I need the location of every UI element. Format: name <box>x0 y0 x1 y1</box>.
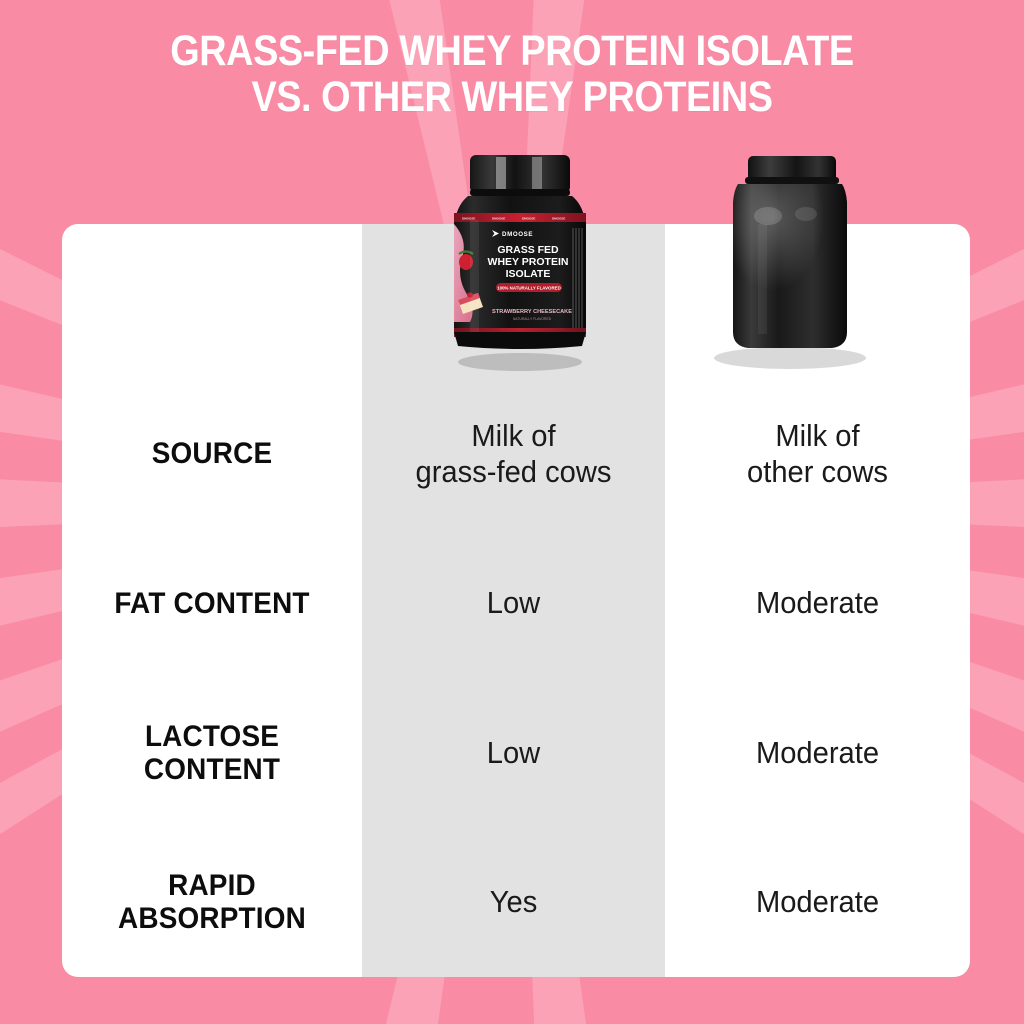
row-value-other-2-text: Moderate <box>756 735 879 771</box>
row-label-2: LACTOSECONTENT <box>73 678 352 828</box>
row-label-0-text: SOURCE <box>152 437 272 470</box>
row-value-other-1-text: Moderate <box>756 585 879 621</box>
row-label-0: SOURCE <box>73 379 352 529</box>
row-value-dmoose-2: Low <box>371 678 656 828</box>
row-label-3-text: RAPIDABSORPTION <box>118 869 306 935</box>
row-value-other-3: Moderate <box>674 828 961 978</box>
row-value-dmoose-1-text: Low <box>487 585 540 621</box>
svg-text:DMOOSE: DMOOSE <box>492 217 505 221</box>
svg-text:WHEY PROTEIN: WHEY PROTEIN <box>488 256 569 268</box>
row-value-other-0-text: Milk ofother cows <box>747 418 888 490</box>
row-label-1: FAT CONTENT <box>73 529 352 679</box>
row-value-dmoose-2-text: Low <box>487 735 540 771</box>
svg-text:NATURALLY FLAVORED: NATURALLY FLAVORED <box>513 317 552 321</box>
product-jar-generic <box>700 150 880 375</box>
svg-text:100% NATURALLY FLAVORED: 100% NATURALLY FLAVORED <box>497 286 561 291</box>
row-value-dmoose-1: Low <box>371 529 656 679</box>
row-value-dmoose-0-text: Milk ofgrass-fed cows <box>416 418 612 490</box>
svg-text:STRAWBERRY CHEESECAKE: STRAWBERRY CHEESECAKE <box>492 309 572 315</box>
row-label-2-text: LACTOSECONTENT <box>144 720 280 786</box>
row-label-3: RAPIDABSORPTION <box>73 828 352 978</box>
row-value-other-1: Moderate <box>674 529 961 679</box>
table-row: RAPIDABSORPTIONYesModerate <box>62 828 970 978</box>
svg-text:GRASS FED: GRASS FED <box>497 244 559 256</box>
svg-text:DMOOSE: DMOOSE <box>552 217 565 221</box>
svg-text:DMOOSE: DMOOSE <box>462 217 475 221</box>
row-label-1-text: FAT CONTENT <box>114 587 309 620</box>
row-value-dmoose-0: Milk ofgrass-fed cows <box>371 379 656 529</box>
row-value-dmoose-3-text: Yes <box>490 884 538 920</box>
svg-text:DMOOSE: DMOOSE <box>522 217 535 221</box>
product-jar-dmoose: DMOOSE DMOOSE DMOOSE DMOOSE DMOOSE GRASS… <box>440 150 600 375</box>
row-value-other-3-text: Moderate <box>756 884 879 920</box>
row-value-other-0: Milk ofother cows <box>674 379 961 529</box>
svg-text:DMOOSE: DMOOSE <box>502 231 533 238</box>
title-line-2: VS. OTHER WHEY PROTEINS <box>61 74 962 120</box>
row-value-other-2: Moderate <box>674 678 961 828</box>
row-value-dmoose-3: Yes <box>371 828 656 978</box>
table-row: FAT CONTENTLowModerate <box>62 529 970 679</box>
table-row: SOURCEMilk ofgrass-fed cowsMilk ofother … <box>62 379 970 529</box>
table-row: LACTOSECONTENTLowModerate <box>62 678 970 828</box>
page-title: GRASS-FED WHEY PROTEIN ISOLATE VS. OTHER… <box>0 28 1024 120</box>
title-line-1: GRASS-FED WHEY PROTEIN ISOLATE <box>61 28 962 74</box>
svg-text:ISOLATE: ISOLATE <box>506 268 551 280</box>
